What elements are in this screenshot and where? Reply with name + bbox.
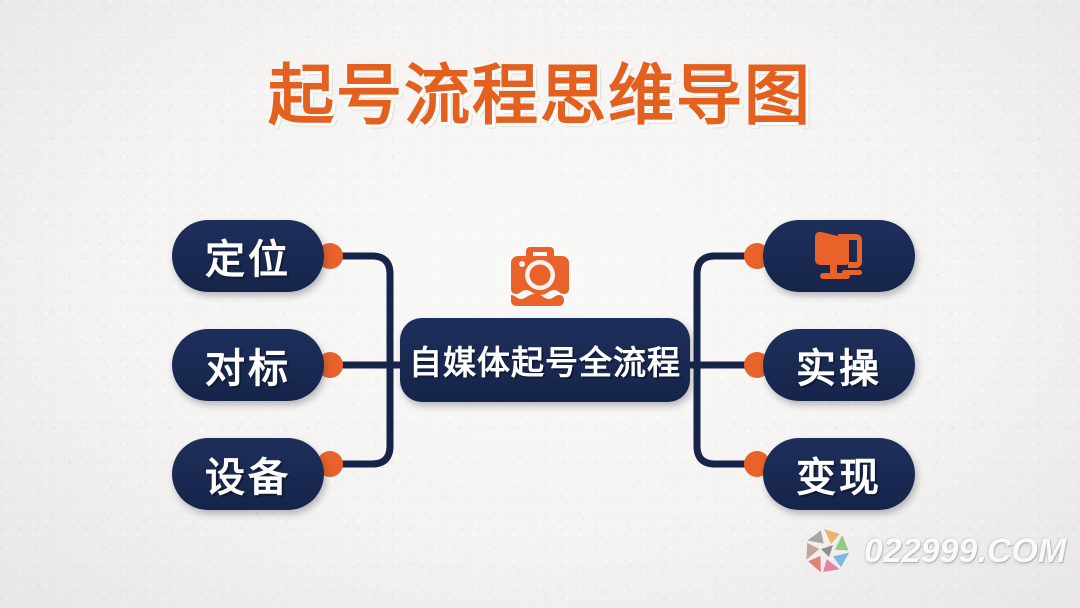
mindmap-canvas: 起号流程思维导图 自媒体起号全流程 [0,0,1080,608]
monitor-display-icon [808,230,870,282]
mindmap-node-shicao[interactable]: 实操 [763,329,915,401]
node-label-bianxian: 变现 [796,445,882,503]
page-title: 起号流程思维导图 [0,62,1080,128]
mindmap-center-node[interactable]: 自媒体起号全流程 [400,318,690,402]
mindmap-node-shebei[interactable]: 设备 [172,438,324,510]
node-label-shicao: 实操 [796,336,882,394]
mindmap-node-duibiao[interactable]: 对标 [172,329,324,401]
watermark-text: 022999.COM [864,532,1066,571]
camera-icon [504,243,576,309]
right-bracket-path [697,256,757,464]
mindmap-node-monitor[interactable] [763,220,915,292]
mindmap-node-bianxian[interactable]: 变现 [763,438,915,510]
mindmap-node-dingwei[interactable]: 定位 [172,220,324,292]
left-bracket-path [330,256,390,464]
node-label-duibiao: 对标 [205,336,291,394]
node-label-shebei: 设备 [205,445,291,503]
center-node-label: 自媒体起号全流程 [409,336,681,384]
pinwheel-logo-icon [798,522,856,580]
watermark: 022999.COM [798,518,1060,584]
node-label-dingwei: 定位 [205,227,291,285]
